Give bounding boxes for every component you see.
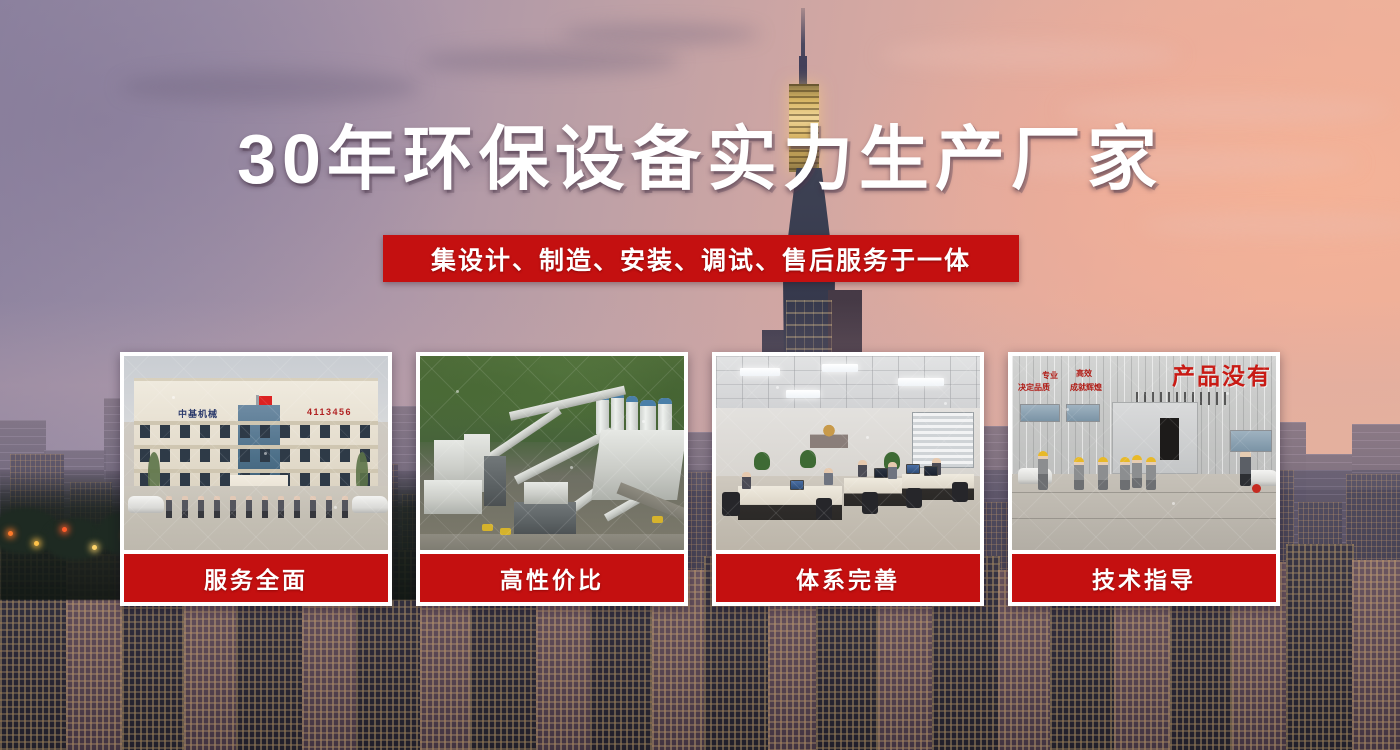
wall-decal bbox=[810, 418, 848, 448]
staff-member bbox=[230, 496, 236, 518]
factory-window bbox=[1020, 404, 1060, 422]
card-caption: 服务全面 bbox=[124, 554, 388, 602]
factory-sign-large: 产品没有 bbox=[1134, 360, 1272, 388]
employee bbox=[888, 462, 897, 479]
building bbox=[1352, 560, 1400, 750]
silo bbox=[658, 398, 672, 434]
card-caption-text: 服务全面 bbox=[204, 561, 308, 595]
red-helmet bbox=[1252, 484, 1261, 493]
parked-car bbox=[128, 496, 164, 513]
window-blinds bbox=[912, 412, 974, 468]
building-sign-text: 中基机械 bbox=[178, 407, 218, 420]
plant-building bbox=[524, 482, 568, 504]
feature-card[interactable]: 体系完善 bbox=[712, 352, 984, 606]
street-lamp bbox=[34, 541, 39, 546]
staff-member bbox=[326, 496, 332, 518]
office-chair bbox=[722, 492, 740, 516]
potted-plant bbox=[754, 452, 770, 470]
ceiling-light bbox=[822, 364, 858, 372]
employee bbox=[824, 468, 833, 485]
worker bbox=[1146, 460, 1156, 490]
supervisor bbox=[1240, 452, 1251, 486]
staff-member bbox=[342, 496, 348, 518]
computer-monitor bbox=[924, 466, 938, 476]
excavator bbox=[652, 516, 663, 523]
factory-sign-small: 专业 bbox=[1042, 370, 1058, 381]
card-caption: 技术指导 bbox=[1012, 554, 1276, 602]
worker bbox=[1120, 460, 1130, 490]
staff-member bbox=[214, 496, 220, 518]
factory-sign-small: 成就辉煌 bbox=[1070, 382, 1102, 393]
factory-sign-small: 决定品质 bbox=[1018, 382, 1050, 393]
page-title: 30年环保设备实力生产厂家 bbox=[0, 124, 1400, 194]
card-caption-text: 高性价比 bbox=[500, 561, 604, 595]
subtitle-banner: 集设计、制造、安装、调试、售后服务于一体 bbox=[383, 235, 1019, 282]
courtyard-ground bbox=[124, 486, 388, 550]
staff-member bbox=[294, 496, 300, 518]
office-chair bbox=[952, 482, 968, 502]
office-building: 中基机械 4113456 bbox=[134, 378, 378, 486]
card-photo-office-building: 中基机械 4113456 bbox=[124, 356, 388, 550]
plant-building bbox=[514, 502, 576, 536]
computer-monitor bbox=[906, 464, 920, 474]
office-chair bbox=[816, 498, 832, 520]
staff-member bbox=[182, 496, 188, 518]
staff-member bbox=[262, 496, 268, 518]
parked-car bbox=[352, 496, 388, 513]
worker bbox=[1098, 460, 1108, 490]
office-chair bbox=[862, 492, 878, 514]
employee bbox=[742, 472, 751, 489]
potted-plant bbox=[800, 450, 816, 468]
staff-member bbox=[198, 496, 204, 518]
card-photo-workers-training: 产品没有 决定品质 专业 高效 成就辉煌 bbox=[1012, 356, 1276, 550]
silo bbox=[640, 400, 656, 434]
street-lamp bbox=[8, 531, 13, 536]
office-chair bbox=[906, 488, 922, 508]
ceiling-light bbox=[786, 390, 820, 398]
factory-side-door bbox=[1160, 418, 1179, 460]
ceiling-light bbox=[740, 368, 780, 376]
worker bbox=[1132, 458, 1142, 488]
feature-card[interactable]: 产品没有 决定品质 专业 高效 成就辉煌 bbox=[1008, 352, 1280, 606]
worker bbox=[1038, 454, 1048, 490]
hero-banner: 30年环保设备实力生产厂家 集设计、制造、安装、调试、售后服务于一体 中基机械 … bbox=[0, 0, 1400, 750]
building bbox=[1286, 544, 1354, 750]
staff-member bbox=[310, 496, 316, 518]
card-caption: 体系完善 bbox=[716, 554, 980, 602]
street-lamp bbox=[92, 545, 97, 550]
staff-member bbox=[278, 496, 284, 518]
card-caption-text: 技术指导 bbox=[1092, 561, 1196, 595]
excavator bbox=[482, 524, 493, 531]
computer-monitor bbox=[874, 468, 888, 478]
card-photo-office-interior bbox=[716, 356, 980, 550]
staff-member bbox=[246, 496, 252, 518]
feature-card[interactable]: 高性价比 bbox=[416, 352, 688, 606]
plant-road bbox=[420, 534, 684, 550]
factory-sign-small: 高效 bbox=[1076, 368, 1092, 379]
subtitle-text: 集设计、制造、安装、调试、售后服务于一体 bbox=[431, 241, 971, 277]
staff-member bbox=[166, 496, 172, 518]
card-caption-text: 体系完善 bbox=[796, 561, 900, 595]
feature-card-list: 中基机械 4113456 bbox=[120, 352, 1280, 606]
feature-card[interactable]: 中基机械 4113456 bbox=[120, 352, 392, 606]
factory-yard bbox=[1012, 474, 1276, 550]
employee bbox=[858, 460, 867, 477]
building-phone-number: 4113456 bbox=[307, 407, 352, 417]
worker bbox=[1074, 460, 1084, 490]
street-lamp bbox=[62, 527, 67, 532]
ceiling-light bbox=[898, 378, 944, 386]
silo bbox=[611, 392, 624, 434]
excavator bbox=[500, 528, 511, 535]
factory-window bbox=[1230, 430, 1272, 452]
card-photo-aerial-plant bbox=[420, 356, 684, 550]
card-caption: 高性价比 bbox=[420, 554, 684, 602]
plant-building bbox=[484, 456, 506, 506]
factory-window bbox=[1066, 404, 1100, 422]
silo bbox=[626, 396, 638, 434]
plant-building bbox=[424, 480, 482, 514]
computer-monitor bbox=[790, 480, 804, 490]
